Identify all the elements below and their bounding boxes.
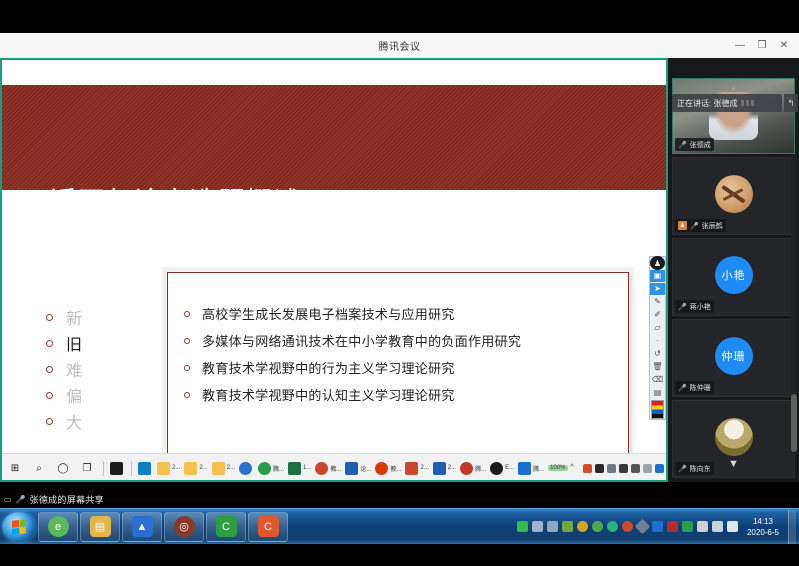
screen-bottom-letterbox — [0, 544, 799, 566]
taskbar-app-6[interactable]: 腾... — [256, 455, 286, 482]
windows-logo-icon — [12, 519, 26, 534]
clock-app-icon — [239, 462, 252, 475]
volume-icon[interactable] — [631, 464, 640, 473]
keyword-item-3[interactable]: 偏 — [46, 382, 146, 408]
microphone-muted-icon: 🎤 — [690, 222, 699, 230]
display-icon[interactable] — [607, 464, 616, 473]
keyword-item-0[interactable]: 新 — [46, 304, 146, 330]
bullet-circle-icon — [46, 314, 53, 321]
folder-icon: ▤ — [90, 516, 111, 537]
dot-tool-icon[interactable]: · — [650, 334, 665, 346]
taskbar-app-4[interactable]: 2... — [210, 455, 237, 482]
video-panel-scrollbar[interactable] — [791, 154, 797, 454]
app-icon — [518, 462, 531, 475]
app-label: 2... — [420, 465, 428, 471]
avatar — [715, 175, 753, 213]
powerpoint-icon — [315, 462, 328, 475]
taskbar-app-10[interactable]: 教... — [373, 455, 403, 482]
bullet-circle-icon — [184, 392, 190, 398]
taskbar-app-3[interactable]: 2... — [182, 455, 209, 482]
participant-name: 陈仲珊 — [690, 383, 711, 393]
keyword-label: 旧 — [66, 331, 83, 355]
globe-icon[interactable] — [607, 521, 618, 532]
tray-expand-icon[interactable]: ^ — [571, 464, 580, 473]
network-icon[interactable] — [547, 521, 558, 532]
topic-label: 教育技术学视野中的行为主义学习理论研究 — [202, 359, 455, 378]
topic-item-2: 教育技术学视野中的行为主义学习理论研究 — [178, 359, 618, 378]
scrollbar-thumb[interactable] — [791, 394, 797, 452]
app-label: 教... — [330, 464, 341, 473]
app-label: 论... — [360, 464, 371, 473]
wps-orange-icon: C — [258, 516, 279, 537]
host-windows7-taskbar: e ▤ ▲ ◎ C C — [0, 508, 799, 544]
camera-icon[interactable] — [619, 464, 628, 473]
collapse-panel-icon[interactable]: ↰ — [784, 94, 798, 112]
app-label: 2... — [199, 465, 207, 471]
participant-name: 张德成 — [690, 140, 711, 150]
taskbar-app-11[interactable]: 2... — [403, 455, 430, 482]
signal-strength-icon[interactable] — [712, 521, 723, 532]
internet-explorer-icon: e — [48, 516, 69, 537]
participant-name: 蒋小艳 — [690, 302, 711, 312]
participant-name-badge: 🎤 蒋小艳 — [675, 300, 714, 313]
app-label: 腾... — [273, 464, 284, 473]
antivirus-shield-icon: ◎ — [174, 516, 195, 537]
taskbar-divider — [131, 461, 132, 476]
inner-taskbar-tray: 100% ^ 14:13 2020/6/5 — [546, 459, 668, 477]
clock-date: 2020-6-5 — [747, 528, 779, 537]
topic-label: 多媒体与网络通讯技术在中小学教育中的负面作用研究 — [202, 332, 521, 351]
video-tile-3[interactable]: 仲珊 🎤 陈仲珊 — [672, 319, 795, 397]
folder-icon — [157, 462, 170, 475]
screen-share-notice-bar: ▭ 🎤 张德成的屏幕共享 — [0, 490, 799, 508]
annotation-pointer-badge-icon[interactable]: ♟ — [650, 256, 665, 270]
participant-name-badge: 🎤 张德成 — [675, 138, 714, 151]
word-icon — [345, 462, 358, 475]
microphone-icon[interactable] — [595, 464, 604, 473]
select-tool-icon[interactable]: ▣ — [650, 270, 665, 282]
participant-video-panel[interactable]: 🎤 张德成 ♟ 🎤 张辰鹤 小艳 🎤 蒋小艳 仲珊 🎤 陈仲珊 — [668, 58, 799, 482]
word-icon — [433, 462, 446, 475]
delete-tool-icon[interactable]: ⌫ — [650, 373, 665, 385]
participant-name-badge: ♟ 🎤 张辰鹤 — [675, 219, 726, 232]
slide-content-card: 高校学生成长发展电子档案技术与应用研究 多媒体与网络通讯技术在中小学教育中的负面… — [167, 272, 629, 482]
tencent-meeting-icon — [460, 462, 473, 475]
topic-label: 教育技术学视野中的认知主义学习理论研究 — [202, 386, 455, 405]
clear-tool-icon[interactable]: 🗑 — [650, 360, 665, 372]
task-view-icon[interactable]: ❐ — [75, 455, 99, 482]
battery-percent-label: 100% — [548, 465, 567, 471]
user-icon[interactable] — [622, 521, 633, 532]
bluetooth-icon[interactable] — [652, 521, 663, 532]
active-speaker-banner: 正在讲话: 张德成 — [672, 94, 782, 112]
app-icon — [110, 462, 123, 475]
shield-icon[interactable] — [562, 521, 573, 532]
taskbar-app-0[interactable] — [108, 455, 127, 482]
printer-icon[interactable] — [532, 521, 543, 532]
topic-item-1: 多媒体与网络通讯技术在中小学教育中的负面作用研究 — [178, 332, 618, 351]
slide-title: 近两年论文选题概述 — [50, 181, 302, 218]
topic-item-3: 教育技术学视野中的认知主义学习理论研究 — [178, 386, 618, 405]
participant-name: 张辰鹤 — [702, 221, 723, 231]
keyword-label: 新 — [66, 305, 83, 329]
desktop-screen: 腾讯会议 — ❐ ✕ 近两年论文选题概述 新 旧 — [0, 0, 799, 566]
tencent-meeting-titlebar: 腾讯会议 — ❐ ✕ — [0, 33, 799, 58]
host-badge-icon: ♟ — [678, 221, 687, 230]
save-tool-icon[interactable]: ▤ — [650, 386, 665, 398]
start-button[interactable]: ⊞ — [3, 455, 27, 482]
bullet-circle-icon — [184, 365, 190, 371]
show-desktop-button[interactable] — [788, 510, 796, 544]
dot-icon[interactable] — [592, 521, 603, 532]
microphone-muted-icon: 🎤 — [678, 384, 687, 392]
highlighter-tool-icon[interactable]: ✎ — [650, 296, 665, 308]
folder-icon — [212, 462, 225, 475]
shared-windows-taskbar: ⊞ ⌕ ◯ ❐ 2... — [0, 453, 668, 482]
scroll-down-chevron-icon[interactable]: ▼ — [728, 458, 739, 470]
avatar — [715, 418, 753, 456]
chrome-icon — [258, 462, 271, 475]
media-app-icon: ▲ — [132, 516, 153, 537]
diamond-icon[interactable] — [635, 519, 651, 535]
color-swatch-picker[interactable] — [651, 400, 664, 419]
taskbar-app-8[interactable]: 教... — [313, 455, 343, 482]
taskbar-app-15[interactable]: 腾... — [516, 455, 546, 482]
participant-name: 陈向东 — [690, 464, 711, 474]
bullet-circle-icon — [46, 392, 53, 399]
taskbar-app-12[interactable]: 2... — [431, 455, 458, 482]
taskbar-app-14[interactable]: E... — [488, 455, 516, 482]
topic-list: 高校学生成长发展电子档案技术与应用研究 多媒体与网络通讯技术在中小学教育中的负面… — [178, 305, 618, 413]
bullet-circle-icon — [46, 418, 53, 425]
taskbar-app-antivirus[interactable]: ◎ — [164, 512, 204, 542]
app-label: E... — [505, 465, 514, 471]
bullet-circle-icon — [46, 366, 53, 373]
eraser-tool-icon[interactable]: ▱ — [650, 322, 665, 334]
topic-label: 高校学生成长发展电子档案技术与应用研究 — [202, 305, 455, 324]
app-title: 腾讯会议 — [379, 38, 421, 53]
action-center-icon[interactable] — [655, 464, 664, 473]
participant-name-badge: 🎤 陈向东 — [675, 462, 714, 475]
taskbar-app-13[interactable]: 腾... — [458, 455, 488, 482]
shared-screen-region: 近两年论文选题概述 新 旧 难 偏 — [0, 58, 668, 482]
maximize-button[interactable]: ❐ — [751, 33, 773, 58]
keyword-item-1[interactable]: 旧 — [46, 330, 146, 356]
pen-tool-icon[interactable]: ✐ — [650, 309, 665, 321]
taskbar-app-wps-green[interactable]: C — [206, 512, 246, 542]
slide-title-banner — [0, 85, 668, 190]
microphone-icon: 🎤 — [16, 495, 26, 504]
annotation-toolbar[interactable]: ▣ ➤ ✎ ✐ ▱ · ↺ 🗑 ⌫ ▤ — [649, 256, 666, 420]
avatar: 仲珊 — [715, 337, 753, 375]
taskbar-app-internet-explorer[interactable]: e — [38, 512, 78, 542]
screen-top-letterbox — [0, 0, 799, 33]
window-controls: — ❐ ✕ — [729, 33, 795, 58]
edge-icon — [138, 462, 151, 475]
app-label: 2... — [172, 465, 180, 471]
app-label: 教... — [390, 464, 401, 473]
presentation-slide: 近两年论文选题概述 新 旧 难 偏 — [0, 58, 668, 453]
audio-level-indicator-icon — [741, 100, 754, 106]
active-speaker-label: 正在讲话: 张德成 — [677, 98, 737, 109]
app-label: 2... — [448, 465, 456, 471]
cortana-icon[interactable]: ◯ — [51, 455, 75, 482]
sync-icon[interactable] — [682, 521, 693, 532]
network-icon[interactable] — [643, 464, 652, 473]
taskbar-app-9[interactable]: 论... — [343, 455, 373, 482]
screen-share-label: 张德成的屏幕共享 — [30, 493, 104, 506]
taskbar-app-5[interactable] — [237, 455, 256, 482]
microphone-muted-icon: 🎤 — [678, 465, 687, 473]
participant-name-badge: 🎤 陈仲珊 — [675, 381, 714, 394]
office-icon — [375, 462, 388, 475]
keyword-list: 新 旧 难 偏 大 — [46, 304, 146, 434]
cursor-tool-icon[interactable]: ➤ — [650, 283, 665, 295]
microphone-muted-icon: 🎤 — [678, 141, 687, 149]
app-label: 腾... — [533, 464, 544, 473]
bullet-circle-icon — [184, 311, 190, 317]
onedrive-icon[interactable] — [583, 464, 592, 473]
flag-icon[interactable] — [667, 521, 678, 532]
keyword-item-2[interactable]: 难 — [46, 356, 146, 382]
clock-tray-icon[interactable] — [577, 521, 588, 532]
powerpoint-icon — [405, 462, 418, 475]
close-button[interactable]: ✕ — [773, 33, 795, 58]
keyword-label: 偏 — [66, 383, 83, 407]
avatar: 小艳 — [715, 256, 753, 294]
video-tile-1[interactable]: ♟ 🎤 张辰鹤 — [672, 157, 795, 235]
folder-icon — [184, 462, 197, 475]
taskbar-app-7[interactable]: 1... — [286, 455, 313, 482]
notes-icon[interactable] — [697, 521, 708, 532]
search-icon[interactable]: ⌕ — [27, 455, 51, 482]
host-taskbar-clock[interactable]: 14:13 2020-6-5 — [742, 516, 784, 538]
microphone-muted-icon: 🎤 — [678, 303, 687, 311]
taskbar-app-1[interactable] — [136, 455, 155, 482]
app-label: 腾... — [475, 464, 486, 473]
undo-tool-icon[interactable]: ↺ — [650, 347, 665, 359]
volume-icon[interactable] — [727, 521, 738, 532]
wps-green-icon: C — [216, 516, 237, 537]
keyword-item-4[interactable]: 大 — [46, 408, 146, 434]
host-taskbar-tray: 14:13 2020-6-5 — [517, 510, 799, 544]
excel-icon — [288, 462, 301, 475]
recorder-icon — [490, 462, 503, 475]
bullet-circle-icon — [184, 338, 190, 344]
minimize-button[interactable]: — — [729, 33, 751, 58]
video-tile-2[interactable]: 小艳 🎤 蒋小艳 — [672, 238, 795, 316]
start-orb-button[interactable] — [2, 512, 36, 542]
app-label: 2... — [227, 465, 235, 471]
taskbar-app-2[interactable]: 2... — [155, 455, 182, 482]
keyword-label: 难 — [66, 357, 83, 381]
topic-item-0: 高校学生成长发展电子档案技术与应用研究 — [178, 305, 618, 324]
keyword-label: 大 — [66, 409, 83, 433]
screen-share-icon: ▭ — [4, 495, 12, 504]
scroll-up-chevron-icon[interactable]: ▲ — [730, 85, 737, 92]
inner-taskbar-left: ⊞ ⌕ ◯ ❐ 2... — [0, 455, 546, 482]
clock-time: 14:13 — [753, 517, 773, 526]
bullet-circle-icon — [46, 340, 53, 347]
taskbar-app-file-explorer[interactable]: ▤ — [80, 512, 120, 542]
app-label: 1... — [303, 465, 311, 471]
battery-icon[interactable] — [517, 521, 528, 532]
taskbar-app-media[interactable]: ▲ — [122, 512, 162, 542]
taskbar-app-wps-orange[interactable]: C — [248, 512, 288, 542]
taskbar-divider — [103, 461, 104, 476]
